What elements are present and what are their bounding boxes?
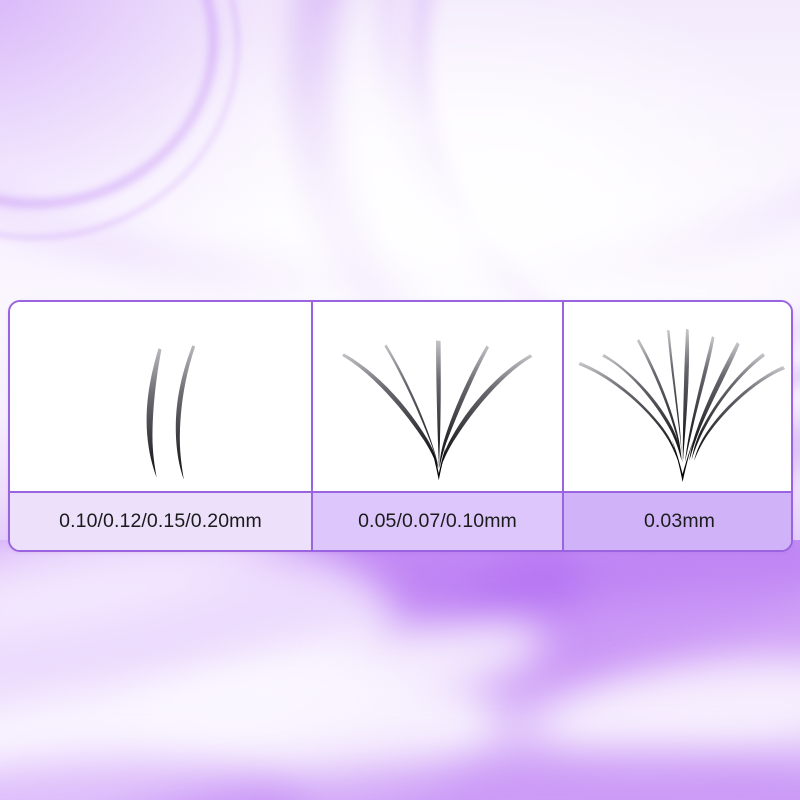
volume-lash-fan-illustration [313, 302, 562, 491]
lash-strand [440, 354, 532, 468]
spec-column-classic: 0.10/0.12/0.15/0.20mm [10, 302, 313, 550]
classic-single-lash-illustration [10, 302, 311, 491]
lash-strand [436, 340, 441, 469]
lash-strand [176, 345, 195, 479]
lash-strand [147, 348, 162, 477]
background-streak-top-left-outer [0, 0, 240, 240]
spec-column-mega-volume: 0.03mm [564, 302, 793, 550]
lash-strand [342, 353, 438, 468]
spec-label-volume: 0.05/0.07/0.10mm [313, 491, 562, 550]
lash-spec-comparison-table: 0.10/0.12/0.15/0.20mm [8, 300, 793, 552]
background-silk-waves [0, 540, 800, 800]
background-arc-wide [0, 0, 800, 298]
lash-strand [694, 366, 785, 461]
lash-strand-group [147, 345, 196, 479]
spec-label-mega-volume: 0.03mm [564, 491, 793, 550]
background-streak-top-left [0, 0, 234, 226]
lash-fan-group [579, 329, 785, 482]
lash-strand [579, 362, 678, 461]
lash-strand [637, 339, 682, 461]
lash-strand [667, 330, 682, 462]
mega-volume-lash-fan-illustration [564, 302, 793, 491]
lash-fan-group [342, 340, 532, 480]
lash-base [672, 440, 693, 482]
spec-column-volume: 0.05/0.07/0.10mm [313, 302, 564, 550]
product-spec-banner: 0.10/0.12/0.15/0.20mm [0, 0, 800, 800]
spec-label-classic: 0.10/0.12/0.15/0.20mm [10, 491, 311, 550]
